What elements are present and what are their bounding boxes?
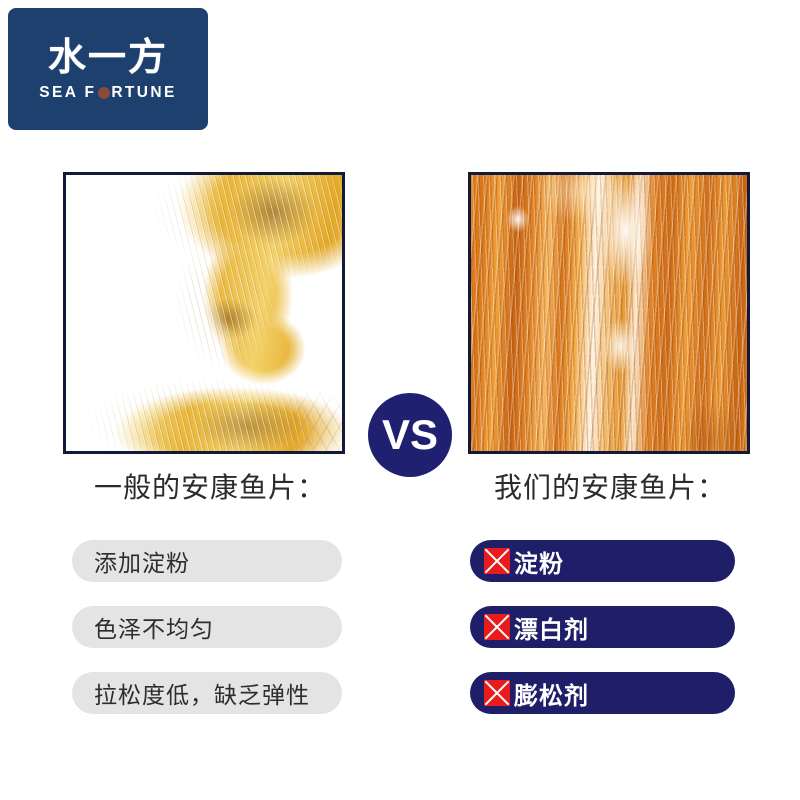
red-x-icon: [484, 614, 510, 640]
ordinary-feature-item: 拉松度低，缺乏弹性: [72, 672, 342, 714]
brand-logo: 水一方 SEA F RTUNE: [8, 8, 208, 130]
our-feature-label: 膨松剂: [514, 676, 589, 711]
ordinary-feature-item: 添加淀粉: [72, 540, 342, 582]
ordinary-product-caption: 一般的安康鱼片：: [60, 466, 360, 506]
our-feature-item: 淀粉: [470, 540, 735, 582]
our-product-photo: [468, 172, 750, 454]
product-comparison-page: 水一方 SEA F RTUNE VS 一般的安康鱼片： 我们的安康鱼片：: [0, 0, 800, 800]
ordinary-feature-label: 拉松度低，缺乏弹性: [94, 676, 310, 710]
ordinary-product-photo: [63, 172, 345, 454]
ordinary-mesh-net-texture: [254, 385, 342, 451]
red-x-icon: [484, 548, 510, 574]
red-x-icon: [484, 680, 510, 706]
our-photo-content: [471, 175, 747, 451]
brand-logo-dot-icon: [98, 87, 110, 99]
our-feature-list: 淀粉 漂白剂 膨松剂: [470, 540, 760, 738]
ordinary-feature-item: 色泽不均匀: [72, 606, 342, 648]
brand-name-english-part2: RTUNE: [111, 85, 176, 101]
our-product-caption: 我们的安康鱼片：: [460, 466, 760, 506]
ordinary-feature-label: 添加淀粉: [94, 544, 190, 578]
ordinary-feature-list: 添加淀粉 色泽不均匀 拉松度低，缺乏弹性: [72, 540, 362, 738]
our-feature-label: 漂白剂: [514, 610, 589, 645]
our-feature-item: 膨松剂: [470, 672, 735, 714]
brand-name-english: SEA F RTUNE: [39, 85, 176, 101]
versus-badge: VS: [368, 393, 452, 477]
brand-name-chinese: 水一方: [48, 38, 168, 76]
ordinary-photo-content: [66, 175, 342, 451]
our-feature-label: 淀粉: [514, 544, 564, 579]
brand-name-english-part1: SEA F: [39, 85, 96, 101]
our-photo-highlights: [471, 175, 747, 451]
ordinary-feature-label: 色泽不均匀: [94, 610, 214, 644]
our-feature-item: 漂白剂: [470, 606, 735, 648]
